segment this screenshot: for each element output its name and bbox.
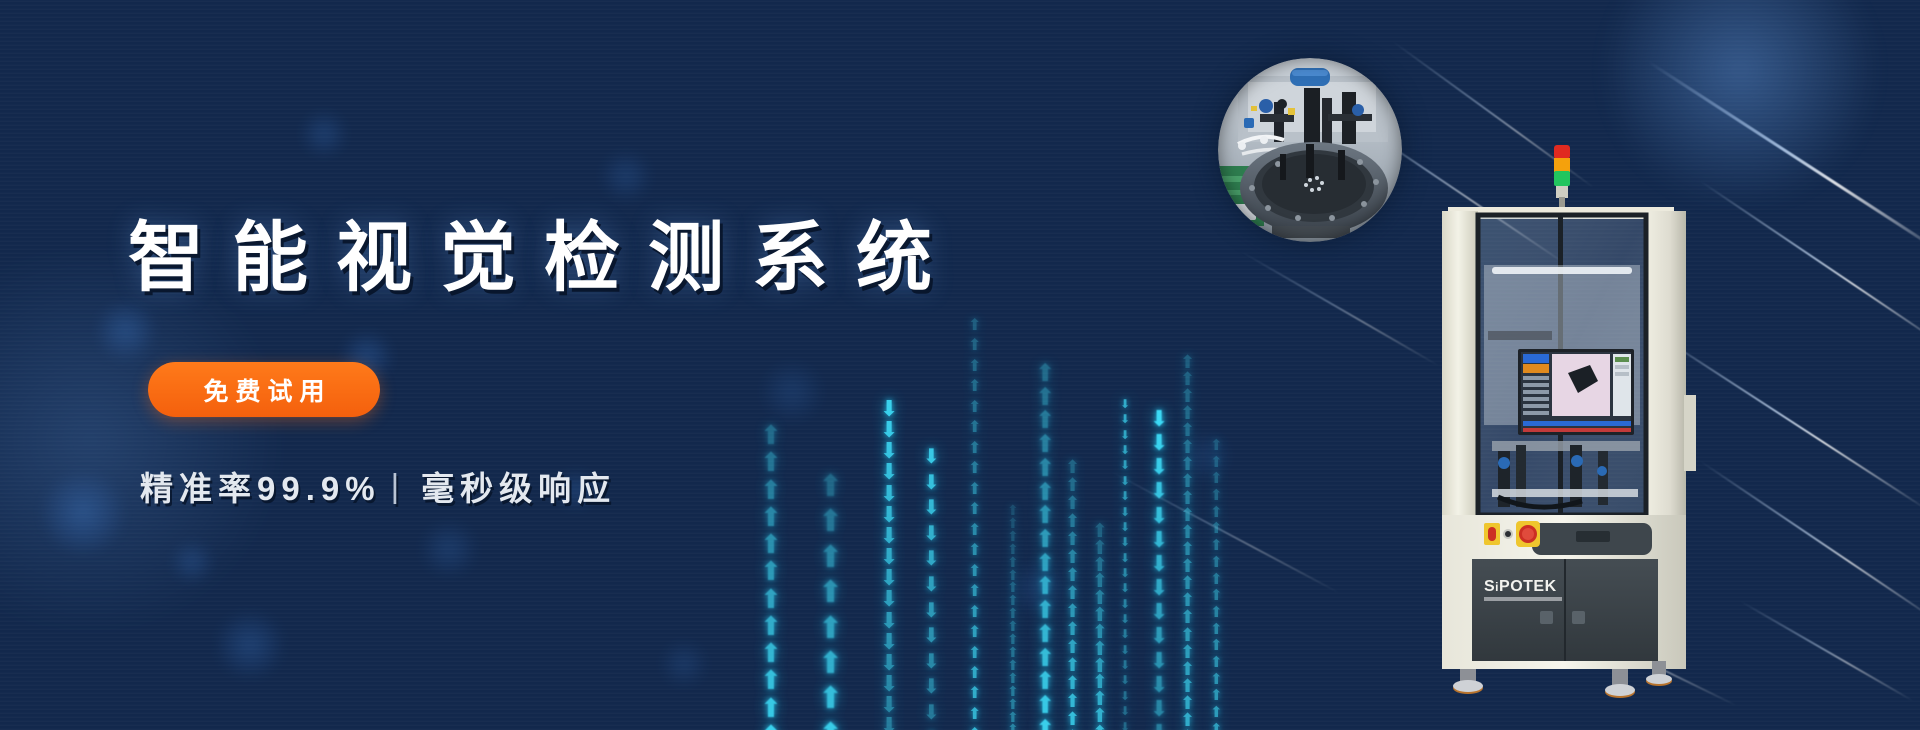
arrow-up-icon: ⬆ bbox=[1180, 372, 1195, 386]
arrow-up-icon: ⬆ bbox=[1065, 604, 1080, 618]
arrow-up-icon: ⬆ bbox=[1180, 696, 1195, 710]
arrow-up-icon: ⬆ bbox=[818, 510, 843, 533]
arrow-down-icon: ⬇ bbox=[880, 485, 898, 502]
arrow-up-icon: ⬆ bbox=[818, 546, 843, 569]
bokeh-dot bbox=[1010, 560, 1066, 616]
bokeh-dot bbox=[760, 360, 824, 424]
arrow-down-icon: ⬇ bbox=[1150, 627, 1168, 644]
arrow-up-icon: ⬆ bbox=[1210, 657, 1223, 669]
arrow-down-icon: ⬇ bbox=[880, 527, 898, 544]
arrow-down-icon: ⬇ bbox=[1120, 707, 1130, 716]
arrow-up-icon: ⬆ bbox=[1180, 610, 1195, 624]
arrow-down-icon: ⬇ bbox=[1120, 400, 1130, 409]
arrow-down-icon: ⬇ bbox=[1150, 482, 1168, 499]
arrow-down-icon: ⬇ bbox=[1150, 410, 1168, 427]
arrow-up-icon: ⬆ bbox=[968, 566, 981, 578]
arrow-stream-column: ⬆⬆⬆⬆⬆⬆⬆⬆⬆⬆⬆⬆⬆⬆⬆⬆⬆ bbox=[1065, 460, 1080, 730]
arrow-up-icon: ⬆ bbox=[760, 589, 782, 609]
arrow-down-icon: ⬇ bbox=[1150, 603, 1168, 620]
arrow-up-icon: ⬆ bbox=[1035, 626, 1055, 645]
arrow-up-icon: ⬆ bbox=[1210, 590, 1223, 602]
arrow-down-icon: ⬇ bbox=[880, 506, 898, 523]
arrow-up-icon: ⬆ bbox=[1065, 586, 1080, 600]
data-stream-arrows: ⬆⬆⬆⬆⬆⬆⬆⬆⬆⬆⬆⬆⬆⬆⬆⬆⬆⬆⬆⬆⬆⬇⬇⬇⬇⬇⬇⬇⬇⬇⬇⬇⬇⬇⬇⬇⬇⬇⬇⬇… bbox=[760, 300, 1400, 730]
arrow-up-icon: ⬆ bbox=[1035, 721, 1055, 730]
tagline-separator: | bbox=[391, 467, 406, 505]
arrow-up-icon: ⬆ bbox=[968, 607, 981, 619]
arrow-up-icon: ⬆ bbox=[1092, 710, 1108, 725]
arrow-up-icon: ⬆ bbox=[1092, 609, 1108, 624]
arrow-up-icon: ⬆ bbox=[1180, 628, 1195, 642]
inset-photo-vision-turntable bbox=[1218, 58, 1402, 242]
machine-brand-text: SiPOTEK bbox=[1484, 578, 1557, 595]
arrow-up-icon: ⬆ bbox=[1007, 673, 1019, 684]
arrow-up-icon: ⬆ bbox=[1180, 423, 1195, 437]
arrow-up-icon: ⬆ bbox=[1065, 514, 1080, 528]
arrow-down-icon: ⬇ bbox=[1120, 584, 1130, 593]
arrow-up-icon: ⬆ bbox=[1180, 593, 1195, 607]
arrow-up-icon: ⬆ bbox=[1092, 660, 1108, 675]
arrow-up-icon: ⬆ bbox=[1065, 694, 1080, 708]
tower-light-amber bbox=[1554, 158, 1570, 172]
arrow-up-icon: ⬆ bbox=[1210, 557, 1223, 569]
arrow-up-icon: ⬆ bbox=[760, 425, 782, 445]
arrow-up-icon: ⬆ bbox=[1035, 531, 1055, 550]
arrow-up-icon: ⬆ bbox=[760, 561, 782, 581]
arrow-up-icon: ⬆ bbox=[1210, 540, 1223, 552]
arrow-up-icon: ⬆ bbox=[1180, 389, 1195, 403]
arrow-down-icon: ⬇ bbox=[1120, 415, 1130, 424]
arrow-up-icon: ⬆ bbox=[1092, 559, 1108, 574]
arrow-stream-column: ⬇⬇⬇⬇⬇⬇⬇⬇⬇⬇⬇⬇⬇⬇⬇ bbox=[1150, 410, 1168, 730]
arrow-down-icon: ⬇ bbox=[880, 654, 898, 671]
arrow-down-icon: ⬇ bbox=[880, 548, 898, 565]
arrow-down-icon: ⬇ bbox=[1120, 508, 1130, 517]
arrow-up-icon: ⬆ bbox=[818, 617, 843, 640]
arrow-down-icon: ⬇ bbox=[1120, 661, 1130, 670]
arrow-up-icon: ⬆ bbox=[968, 484, 981, 496]
arrow-up-icon: ⬆ bbox=[1007, 531, 1019, 542]
arrow-up-icon: ⬆ bbox=[1035, 578, 1055, 597]
arrow-up-icon: ⬆ bbox=[1007, 712, 1019, 723]
arrow-down-icon: ⬇ bbox=[880, 463, 898, 480]
inset-photo-ring bbox=[1218, 58, 1402, 242]
arrow-up-icon: ⬆ bbox=[1007, 647, 1019, 658]
arrow-down-icon: ⬇ bbox=[1150, 555, 1168, 572]
arrow-up-icon: ⬆ bbox=[1035, 650, 1055, 669]
arrow-stream-column: ⬆⬆⬆⬆⬆⬆⬆⬆⬆⬆⬆⬆⬆⬆⬆⬆⬆⬆⬆⬆ bbox=[1210, 440, 1223, 730]
arrow-up-icon: ⬆ bbox=[760, 452, 782, 472]
arrow-up-icon: ⬆ bbox=[818, 475, 843, 498]
arrow-up-icon: ⬆ bbox=[1007, 582, 1019, 593]
arrow-up-icon: ⬆ bbox=[1035, 436, 1055, 455]
arrow-down-icon: ⬇ bbox=[923, 629, 940, 645]
arrow-down-icon: ⬇ bbox=[1120, 723, 1130, 730]
arrow-stream-column: ⬇⬇⬇⬇⬇⬇⬇⬇⬇⬇⬇⬇ bbox=[923, 450, 940, 730]
arrow-up-icon: ⬆ bbox=[968, 340, 981, 352]
arrow-stream-column: ⬇⬇⬇⬇⬇⬇⬇⬇⬇⬇⬇⬇⬇⬇⬇⬇⬇⬇⬇⬇⬇⬇⬇⬇ bbox=[1120, 400, 1130, 730]
arrow-up-icon: ⬆ bbox=[760, 670, 782, 690]
arrow-down-icon: ⬇ bbox=[923, 501, 940, 517]
arrow-up-icon: ⬆ bbox=[1035, 389, 1055, 408]
arrow-up-icon: ⬆ bbox=[818, 723, 843, 730]
arrow-up-icon: ⬆ bbox=[1035, 555, 1055, 574]
arrow-up-icon: ⬆ bbox=[1180, 559, 1195, 573]
bokeh-dot bbox=[600, 150, 652, 202]
arrow-up-icon: ⬆ bbox=[1065, 532, 1080, 546]
bokeh-dot bbox=[300, 110, 348, 158]
arrow-up-icon: ⬆ bbox=[968, 627, 981, 639]
arrow-up-icon: ⬆ bbox=[1210, 523, 1223, 535]
arrow-up-icon: ⬆ bbox=[1035, 507, 1055, 526]
arrow-up-icon: ⬆ bbox=[1092, 525, 1108, 540]
arrow-up-icon: ⬆ bbox=[818, 581, 843, 604]
free-trial-button[interactable]: 免费试用 bbox=[148, 362, 380, 417]
arrow-up-icon: ⬆ bbox=[968, 402, 981, 414]
arrow-up-icon: ⬆ bbox=[968, 709, 981, 721]
arrow-up-icon: ⬆ bbox=[968, 668, 981, 680]
arrow-down-icon: ⬇ bbox=[1120, 600, 1130, 609]
arrow-up-icon: ⬆ bbox=[760, 507, 782, 527]
left-glow bbox=[0, 250, 300, 630]
arrow-up-icon: ⬆ bbox=[1035, 602, 1055, 621]
arrow-up-icon: ⬆ bbox=[1007, 724, 1019, 730]
accuracy-text: 精准率99.9% bbox=[140, 462, 381, 510]
arrow-down-icon: ⬇ bbox=[1150, 579, 1168, 596]
arrow-up-icon: ⬆ bbox=[1007, 544, 1019, 555]
arrow-up-icon: ⬆ bbox=[1210, 624, 1223, 636]
arrow-up-icon: ⬆ bbox=[1065, 568, 1080, 582]
arrow-down-icon: ⬇ bbox=[923, 706, 940, 722]
arrow-stream-column: ⬇⬇⬇⬇⬇⬇⬇⬇⬇⬇⬇⬇⬇⬇⬇⬇⬇⬇ bbox=[880, 400, 898, 730]
arrow-down-icon: ⬇ bbox=[880, 569, 898, 586]
arrow-up-icon: ⬆ bbox=[1092, 542, 1108, 557]
arrow-up-icon: ⬆ bbox=[1007, 595, 1019, 606]
arrow-up-icon: ⬆ bbox=[1035, 484, 1055, 503]
arrow-up-icon: ⬆ bbox=[1065, 496, 1080, 510]
light-streak bbox=[1110, 470, 1340, 593]
bokeh-dot bbox=[215, 610, 285, 680]
arrow-up-icon: ⬆ bbox=[1007, 505, 1019, 516]
arrow-down-icon: ⬇ bbox=[923, 450, 940, 466]
arrow-down-icon: ⬇ bbox=[1120, 477, 1130, 486]
arrow-down-icon: ⬇ bbox=[880, 675, 898, 692]
arrow-up-icon: ⬆ bbox=[1035, 673, 1055, 692]
bokeh-dot bbox=[420, 520, 478, 578]
arrow-up-icon: ⬆ bbox=[1180, 406, 1195, 420]
arrow-stream-column: ⬆⬆⬆⬆⬆⬆⬆⬆⬆⬆⬆⬆⬆⬆ bbox=[1092, 525, 1108, 730]
arrow-up-icon: ⬆ bbox=[1007, 608, 1019, 619]
arrow-up-icon: ⬆ bbox=[1180, 576, 1195, 590]
arrow-up-icon: ⬆ bbox=[1007, 570, 1019, 581]
arrow-up-icon: ⬆ bbox=[1065, 550, 1080, 564]
arrow-up-icon: ⬆ bbox=[1210, 690, 1223, 702]
arrow-up-icon: ⬆ bbox=[1180, 355, 1195, 369]
arrow-up-icon: ⬆ bbox=[1092, 592, 1108, 607]
arrow-up-icon: ⬆ bbox=[1035, 697, 1055, 716]
arrow-up-icon: ⬆ bbox=[760, 643, 782, 663]
arrow-up-icon: ⬆ bbox=[1180, 491, 1195, 505]
bokeh-dot bbox=[660, 640, 708, 688]
arrow-down-icon: ⬇ bbox=[1120, 692, 1130, 701]
arrow-up-icon: ⬆ bbox=[1065, 478, 1080, 492]
arrow-up-icon: ⬆ bbox=[1092, 575, 1108, 590]
arrow-up-icon: ⬆ bbox=[1210, 640, 1223, 652]
arrow-up-icon: ⬆ bbox=[1092, 643, 1108, 658]
arrow-down-icon: ⬇ bbox=[880, 696, 898, 713]
arrow-up-icon: ⬆ bbox=[1210, 473, 1223, 485]
arrow-up-icon: ⬆ bbox=[1180, 457, 1195, 471]
arrow-down-icon: ⬇ bbox=[1120, 446, 1130, 455]
arrow-up-icon: ⬆ bbox=[1180, 662, 1195, 676]
arrow-down-icon: ⬇ bbox=[1150, 676, 1168, 693]
arrow-down-icon: ⬇ bbox=[880, 400, 898, 417]
arrow-up-icon: ⬆ bbox=[760, 725, 782, 730]
arrow-down-icon: ⬇ bbox=[880, 442, 898, 459]
arrow-stream-column: ⬆⬆⬆⬆⬆⬆⬆⬆⬆⬆⬆⬆⬆⬆⬆⬆⬆⬆ bbox=[1035, 365, 1055, 730]
arrow-up-icon: ⬆ bbox=[968, 525, 981, 537]
arrow-up-icon: ⬆ bbox=[1065, 460, 1080, 474]
arrow-up-icon: ⬆ bbox=[1210, 574, 1223, 586]
arrow-up-icon: ⬆ bbox=[1007, 557, 1019, 568]
arrow-down-icon: ⬇ bbox=[1120, 615, 1130, 624]
arrow-up-icon: ⬆ bbox=[1035, 412, 1055, 431]
bokeh-dot bbox=[1180, 430, 1232, 482]
arrow-down-icon: ⬇ bbox=[1120, 538, 1130, 547]
arrow-up-icon: ⬆ bbox=[968, 361, 981, 373]
arrow-down-icon: ⬇ bbox=[1120, 676, 1130, 685]
arrow-up-icon: ⬆ bbox=[1007, 518, 1019, 529]
tower-light-green bbox=[1554, 171, 1570, 186]
arrow-down-icon: ⬇ bbox=[880, 421, 898, 438]
arrow-stream-column: ⬆⬆⬆⬆⬆⬆⬆⬆⬆⬆⬆⬆⬆ bbox=[760, 425, 782, 730]
arrow-down-icon: ⬇ bbox=[1120, 492, 1130, 501]
arrow-down-icon: ⬇ bbox=[923, 527, 940, 543]
arrow-up-icon: ⬆ bbox=[1035, 365, 1055, 384]
arrow-up-icon: ⬆ bbox=[968, 545, 981, 557]
arrow-up-icon: ⬆ bbox=[1007, 686, 1019, 697]
arrow-down-icon: ⬇ bbox=[1150, 434, 1168, 451]
arrow-up-icon: ⬆ bbox=[1210, 440, 1223, 452]
arrow-down-icon: ⬇ bbox=[923, 655, 940, 671]
arrow-up-icon: ⬆ bbox=[818, 687, 843, 710]
arrow-up-icon: ⬆ bbox=[1180, 679, 1195, 693]
arrow-up-icon: ⬆ bbox=[1210, 607, 1223, 619]
arrow-up-icon: ⬆ bbox=[760, 616, 782, 636]
arrow-down-icon: ⬇ bbox=[880, 717, 898, 730]
arrow-up-icon: ⬆ bbox=[1210, 490, 1223, 502]
light-streak bbox=[1240, 250, 1440, 367]
arrow-down-icon: ⬇ bbox=[1120, 431, 1130, 440]
arrow-up-icon: ⬆ bbox=[1092, 676, 1108, 691]
hero-banner: ⬆⬆⬆⬆⬆⬆⬆⬆⬆⬆⬆⬆⬆⬆⬆⬆⬆⬆⬆⬆⬆⬇⬇⬇⬇⬇⬇⬇⬇⬇⬇⬇⬇⬇⬇⬇⬇⬇⬇⬇… bbox=[0, 0, 1920, 730]
arrow-down-icon: ⬇ bbox=[1120, 646, 1130, 655]
arrow-down-icon: ⬇ bbox=[1120, 523, 1130, 532]
bokeh-dot bbox=[95, 300, 157, 362]
arrow-up-icon: ⬆ bbox=[1065, 622, 1080, 636]
arrow-up-icon: ⬆ bbox=[1035, 460, 1055, 479]
arrow-up-icon: ⬆ bbox=[1007, 634, 1019, 645]
arrow-down-icon: ⬇ bbox=[880, 633, 898, 650]
arrow-up-icon: ⬆ bbox=[968, 463, 981, 475]
arrow-up-icon: ⬆ bbox=[1092, 626, 1108, 641]
arrow-down-icon: ⬇ bbox=[923, 578, 940, 594]
arrow-up-icon: ⬆ bbox=[1180, 645, 1195, 659]
machine-brand-subtext bbox=[1484, 597, 1562, 601]
arrow-up-icon: ⬆ bbox=[1180, 508, 1195, 522]
arrow-up-icon: ⬆ bbox=[968, 443, 981, 455]
arrow-stream-column: ⬆⬆⬆⬆⬆⬆⬆⬆ bbox=[818, 475, 843, 730]
arrow-up-icon: ⬆ bbox=[968, 688, 981, 700]
arrow-stream-column: ⬆⬆⬆⬆⬆⬆⬆⬆⬆⬆⬆⬆⬆⬆⬆⬆⬆⬆⬆⬆⬆⬆⬆⬆⬆⬆ bbox=[1180, 355, 1195, 730]
arrow-down-icon: ⬇ bbox=[1120, 569, 1130, 578]
arrow-up-icon: ⬆ bbox=[968, 422, 981, 434]
bokeh-dot bbox=[40, 470, 126, 556]
arrow-up-icon: ⬆ bbox=[1210, 507, 1223, 519]
arrow-down-icon: ⬇ bbox=[1150, 700, 1168, 717]
arrow-down-icon: ⬇ bbox=[1150, 652, 1168, 669]
arrow-up-icon: ⬆ bbox=[1007, 660, 1019, 671]
arrow-down-icon: ⬇ bbox=[1150, 531, 1168, 548]
arrow-down-icon: ⬇ bbox=[880, 612, 898, 629]
arrow-up-icon: ⬆ bbox=[968, 381, 981, 393]
arrow-up-icon: ⬆ bbox=[1007, 699, 1019, 710]
arrow-up-icon: ⬆ bbox=[968, 586, 981, 598]
tower-light-red bbox=[1554, 145, 1570, 159]
arrow-up-icon: ⬆ bbox=[818, 652, 843, 675]
arrow-stream-column: ⬆⬆⬆⬆⬆⬆⬆⬆⬆⬆⬆⬆⬆⬆⬆⬆⬆⬆⬆⬆⬆ bbox=[1007, 505, 1019, 730]
arrow-up-icon: ⬆ bbox=[1210, 457, 1223, 469]
light-streak bbox=[1699, 460, 1920, 624]
arrow-up-icon: ⬆ bbox=[1065, 640, 1080, 654]
arrow-up-icon: ⬆ bbox=[760, 534, 782, 554]
arrow-down-icon: ⬇ bbox=[923, 552, 940, 568]
arrow-up-icon: ⬆ bbox=[968, 320, 981, 332]
arrow-down-icon: ⬇ bbox=[1150, 507, 1168, 524]
arrow-down-icon: ⬇ bbox=[923, 680, 940, 696]
arrow-up-icon: ⬆ bbox=[760, 480, 782, 500]
arrow-down-icon: ⬇ bbox=[880, 590, 898, 607]
arrow-up-icon: ⬆ bbox=[1180, 713, 1195, 727]
page-title: 智能视觉检测系统 bbox=[128, 196, 960, 306]
arrow-up-icon: ⬆ bbox=[1007, 621, 1019, 632]
arrow-up-icon: ⬆ bbox=[1180, 474, 1195, 488]
bokeh-dot bbox=[170, 540, 214, 584]
inspection-machine-image: SiPOTEK bbox=[1432, 145, 1704, 705]
arrow-down-icon: ⬇ bbox=[1120, 630, 1130, 639]
arrow-down-icon: ⬇ bbox=[923, 604, 940, 620]
feature-tagline: 精准率99.9% | 毫秒级响应 bbox=[140, 462, 616, 510]
arrow-up-icon: ⬆ bbox=[1210, 724, 1223, 730]
arrow-up-icon: ⬆ bbox=[968, 504, 981, 516]
arrow-up-icon: ⬆ bbox=[1180, 525, 1195, 539]
arrow-up-icon: ⬆ bbox=[1210, 674, 1223, 686]
arrow-up-icon: ⬆ bbox=[1180, 440, 1195, 454]
arrow-down-icon: ⬇ bbox=[1150, 458, 1168, 475]
arrow-up-icon: ⬆ bbox=[1092, 693, 1108, 708]
arrow-up-icon: ⬆ bbox=[1065, 712, 1080, 726]
response-text: 毫秒级响应 bbox=[421, 462, 616, 510]
arrow-up-icon: ⬆ bbox=[1065, 676, 1080, 690]
arrow-up-icon: ⬆ bbox=[968, 648, 981, 660]
machine-illustration: SiPOTEK bbox=[1432, 145, 1704, 705]
arrow-down-icon: ⬇ bbox=[1150, 724, 1168, 730]
arrow-up-icon: ⬆ bbox=[1210, 707, 1223, 719]
arrow-down-icon: ⬇ bbox=[923, 476, 940, 492]
arrow-down-icon: ⬇ bbox=[1120, 554, 1130, 563]
arrow-stream-column: ⬆⬆⬆⬆⬆⬆⬆⬆⬆⬆⬆⬆⬆⬆⬆⬆⬆⬆⬆⬆⬆⬆ bbox=[968, 320, 981, 730]
arrow-down-icon: ⬇ bbox=[1120, 461, 1130, 470]
arrow-up-icon: ⬆ bbox=[1065, 658, 1080, 672]
arrow-up-icon: ⬆ bbox=[760, 698, 782, 718]
light-streak bbox=[1740, 600, 1914, 701]
arrow-up-icon: ⬆ bbox=[1180, 542, 1195, 556]
light-streak bbox=[1699, 180, 1920, 350]
